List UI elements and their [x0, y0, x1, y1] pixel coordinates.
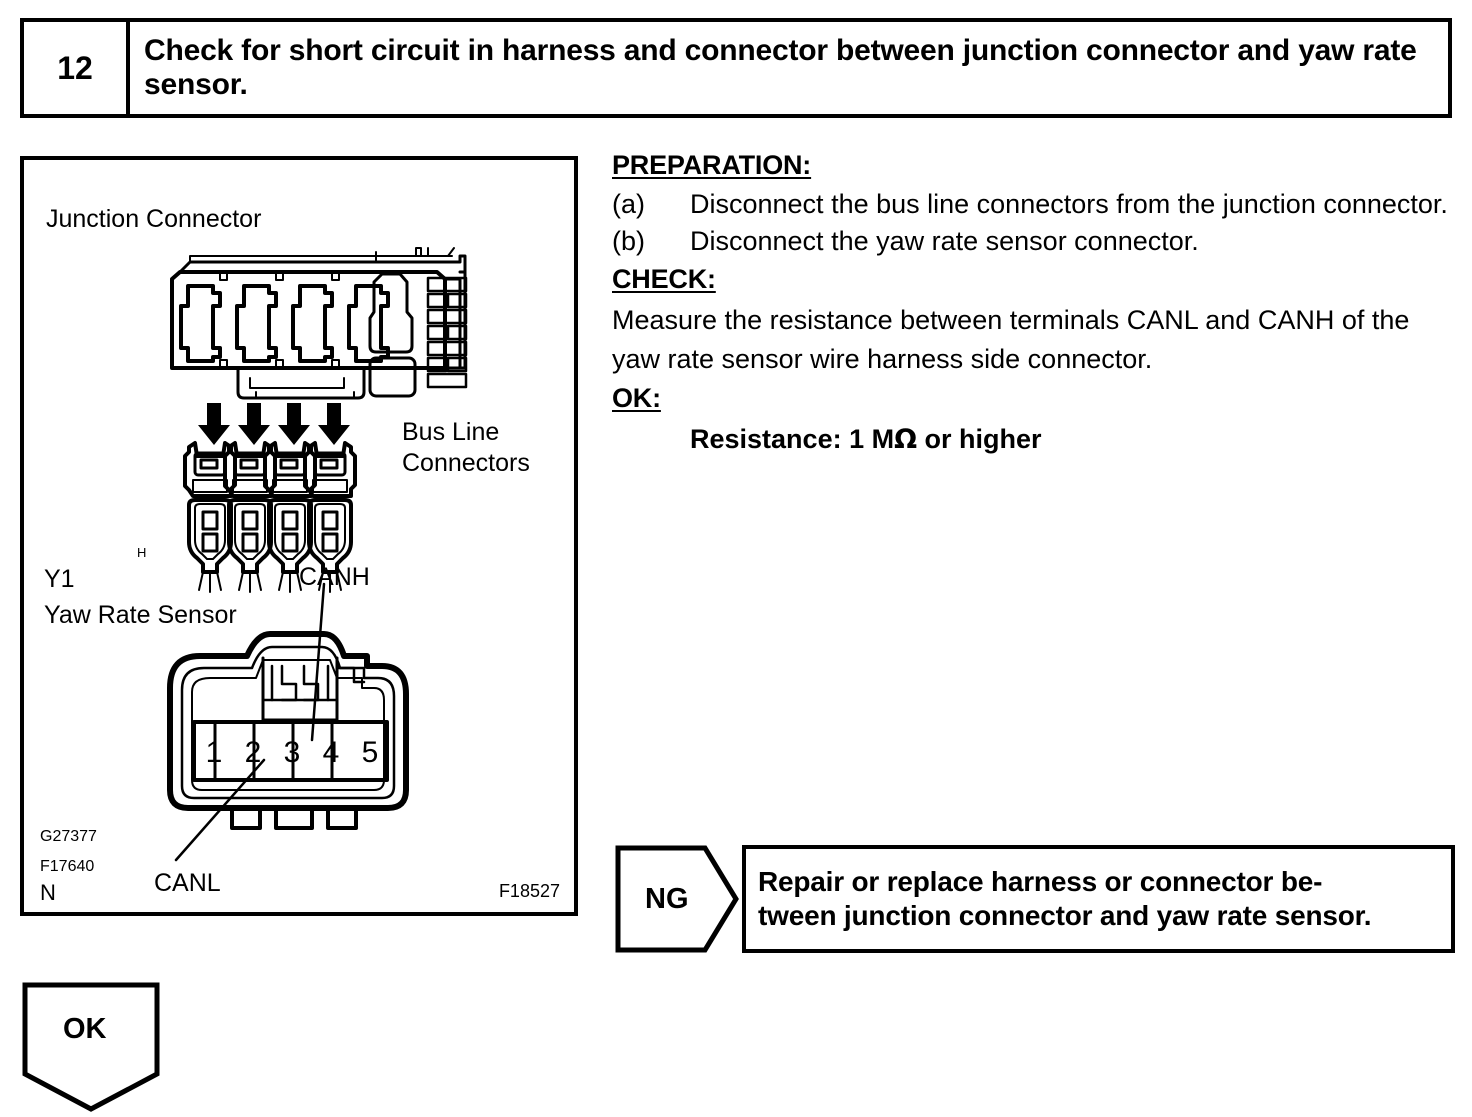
step-header-box: 12 Check for short circuit in harness an…	[20, 18, 1452, 118]
preparation-step-a-text: Disconnect the bus line connectors from …	[690, 187, 1460, 222]
junction-connector-art	[172, 248, 466, 398]
terminal-numbers: 1 2 3 4 5	[206, 736, 379, 769]
ng-label: NG	[645, 883, 689, 916]
terminal-number-1: 1	[206, 736, 223, 769]
ng-arrow-badge: NG	[615, 845, 739, 953]
h-marker-label: H	[137, 545, 146, 560]
step-title: Check for short circuit in harness and c…	[144, 34, 1434, 101]
ok-heading: OK:	[612, 383, 1460, 414]
canh-leader-line	[312, 584, 324, 740]
reference-code-3: N	[40, 880, 56, 906]
wiring-diagram-illustration: 1 2 3 4 5	[24, 160, 574, 912]
yaw-rate-sensor-connector-art	[170, 634, 406, 828]
ng-message-text: Repair or replace harness or connector b…	[758, 865, 1371, 932]
ng-result-row: NG Repair or replace harness or connecto…	[615, 845, 1455, 953]
ng-message-line-1: Repair or replace harness or connector b…	[758, 865, 1371, 899]
preparation-step-b: (b) Disconnect the yaw rate sensor conne…	[612, 224, 1460, 259]
check-heading: CHECK:	[612, 264, 1460, 295]
step-title-cell: Check for short circuit in harness and c…	[130, 22, 1448, 114]
canl-label: CANL	[154, 868, 221, 899]
ng-message-box: Repair or replace harness or connector b…	[742, 845, 1455, 953]
ok-spec-suffix: or higher	[917, 424, 1042, 454]
terminal-number-3: 3	[284, 736, 301, 769]
preparation-step-a: (a) Disconnect the bus line connectors f…	[612, 187, 1460, 222]
preparation-heading: PREPARATION:	[612, 150, 1460, 181]
reference-code-1: G27377	[40, 828, 97, 846]
step-number: 12	[57, 50, 93, 87]
ok-specification: Resistance: 1 MΩ or higher	[690, 424, 1460, 455]
canh-label: CANH	[299, 562, 370, 593]
ok-arrow-shape	[22, 982, 162, 1112]
ng-message-line-2: tween junction connector and yaw rate se…	[758, 899, 1371, 933]
reference-code-2: F17640	[40, 858, 94, 876]
junction-connector-label: Junction Connector	[46, 204, 261, 235]
yaw-rate-sensor-label: Yaw Rate Sensor	[44, 600, 237, 631]
preparation-step-a-marker: (a)	[612, 187, 690, 222]
component-code-label: Y1	[44, 564, 75, 595]
ohm-symbol: Ω	[894, 424, 917, 455]
terminal-number-4: 4	[323, 736, 340, 769]
figure-panel: 1 2 3 4 5 Junction Connector Bus Line Co…	[20, 156, 578, 916]
check-text: Measure the resistance between terminals…	[612, 301, 1460, 379]
insertion-arrows	[198, 403, 350, 445]
bus-line-connectors-label: Bus Line Connectors	[402, 417, 530, 478]
preparation-step-b-marker: (b)	[612, 224, 690, 259]
preparation-step-b-text: Disconnect the yaw rate sensor connector…	[690, 224, 1460, 259]
step-number-cell: 12	[24, 22, 130, 114]
ok-label: OK	[63, 1013, 107, 1046]
instructions-column: PREPARATION: (a) Disconnect the bus line…	[612, 150, 1460, 455]
figure-id-code: F18527	[499, 881, 560, 902]
ok-arrow-badge: OK	[22, 982, 162, 1112]
terminal-number-2: 2	[245, 736, 262, 769]
ok-spec-prefix: Resistance: 1 M	[690, 424, 894, 454]
terminal-number-5: 5	[362, 736, 379, 769]
